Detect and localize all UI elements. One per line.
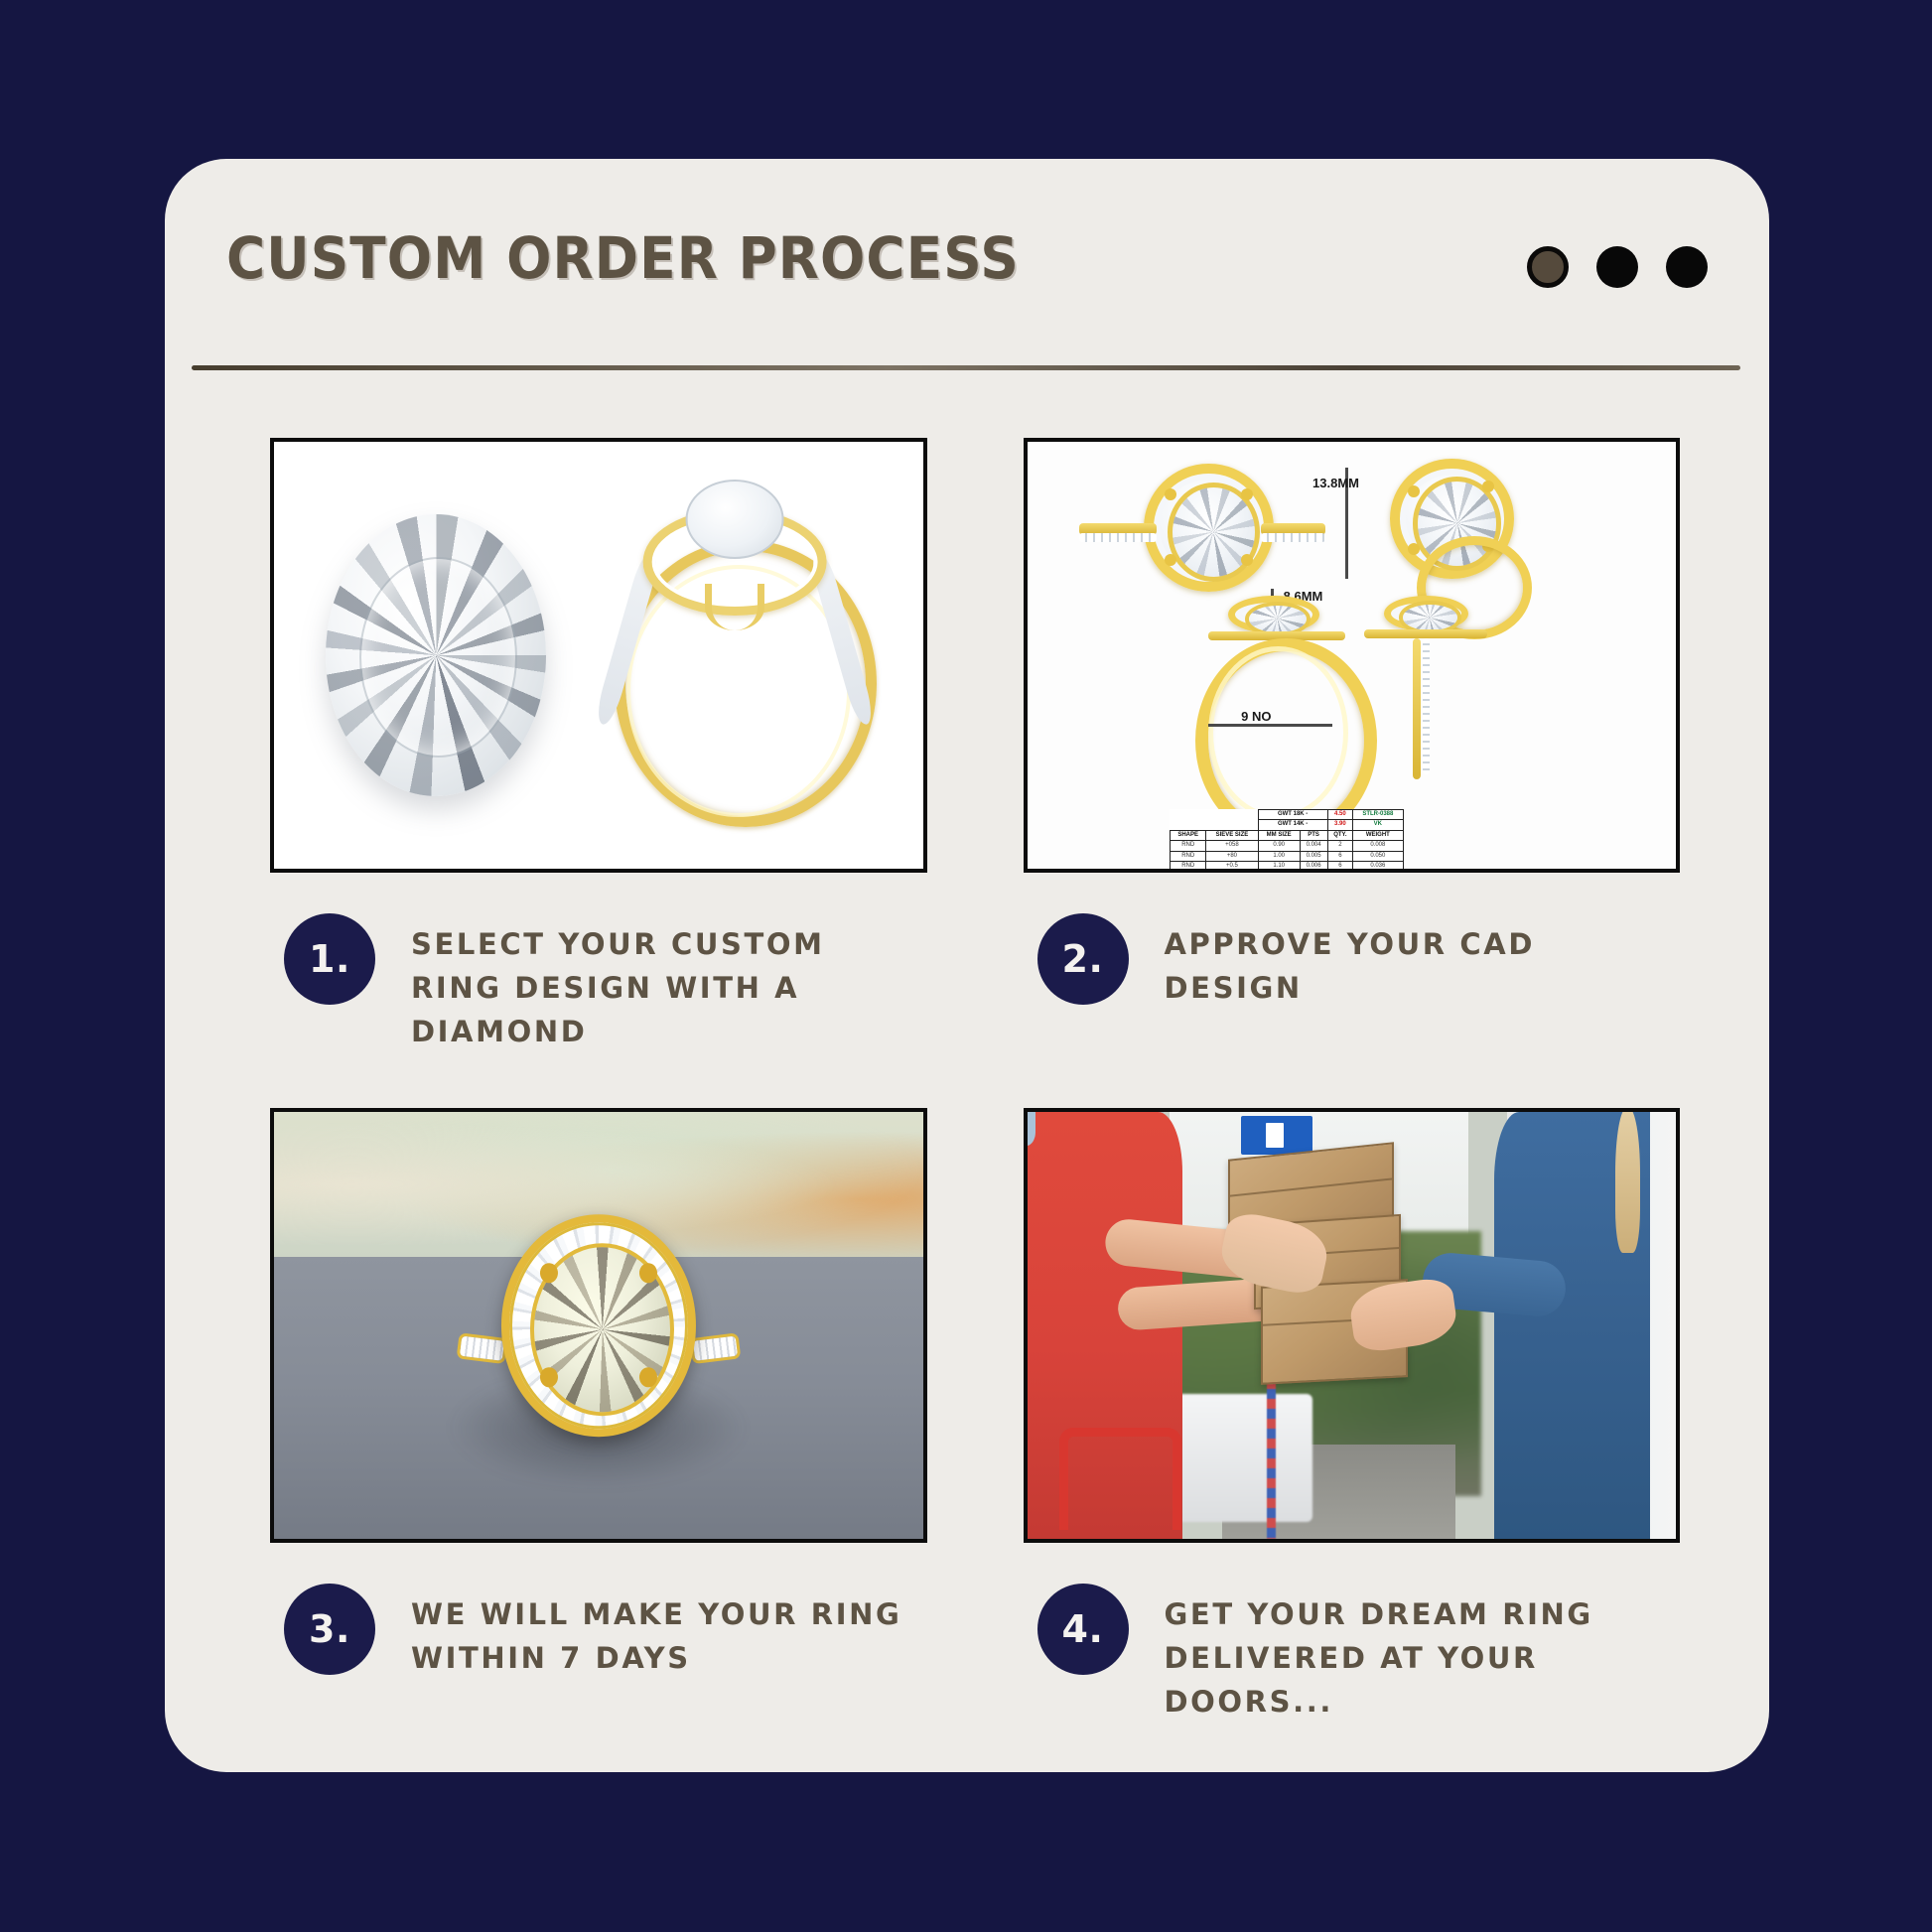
header-divider — [192, 365, 1740, 370]
card-header: CUSTOM ORDER PROCESS — [226, 207, 1735, 355]
cad-ring-size-label: 9 NO — [1241, 709, 1271, 724]
table-row: RND +058 0.90 0.004 2 0.008 — [1171, 841, 1403, 852]
hand-trolley-icon — [1059, 1428, 1181, 1531]
photo-street-sign — [1241, 1116, 1312, 1155]
gwt-14k-value: 3.90 — [1327, 820, 1353, 831]
step-card-1: 1. SELECT YOUR CUSTOM RING DESIGN WITH A… — [270, 438, 927, 1072]
cad-spec-table: GWT 18K - 4.50 STLR-0388 GWT 14K - 3.90 — [1170, 809, 1403, 873]
col-shape: SHAPE — [1171, 830, 1206, 841]
step-4-image — [1024, 1108, 1681, 1543]
cad-band-front-inner — [1208, 646, 1348, 818]
cad-side-shank — [1413, 638, 1421, 779]
customer-hair — [1615, 1108, 1640, 1253]
loose-diamond-icon — [326, 514, 546, 796]
col-qty: QTY. — [1327, 830, 1353, 841]
style-code: STLR-0388 — [1353, 809, 1403, 820]
step-card-3: 3. WE WILL MAKE YOUR RING WITHIN 7 DAYS — [270, 1108, 927, 1742]
table-row: RND +80 1.00 0.005 6 0.050 — [1171, 851, 1403, 862]
step-2-image: 13.8MM — [1024, 438, 1681, 873]
cad-pave-left — [1079, 533, 1157, 542]
step-1-badge: 1. — [284, 913, 375, 1005]
step-card-2: 13.8MM — [1024, 438, 1681, 1072]
table-row: GWT 18K - 4.50 STLR-0388 — [1171, 809, 1403, 820]
step-4-label: GET YOUR DREAM RING DELIVERED AT YOUR DO… — [1165, 1584, 1631, 1724]
step-3-badge: 3. — [284, 1584, 375, 1675]
step-2-badge: 2. — [1037, 913, 1129, 1005]
photo-delivery-van — [1170, 1394, 1312, 1522]
step-4-caption: 4. GET YOUR DREAM RING DELIVERED AT YOUR… — [1024, 1584, 1681, 1742]
gwt-18k-value: 4.50 — [1327, 809, 1353, 820]
cad-view-front-top — [1144, 464, 1274, 592]
step-card-4: 4. GET YOUR DREAM RING DELIVERED AT YOUR… — [1024, 1108, 1681, 1742]
steps-row-2: 3. WE WILL MAKE YOUR RING WITHIN 7 DAYS — [270, 1108, 1680, 1742]
finished-ring-icon — [501, 1214, 696, 1437]
window-controls — [1527, 246, 1708, 288]
step-2-caption: 2. APPROVE YOUR CAD DESIGN — [1024, 913, 1681, 1072]
table-header-row: SHAPE SIEVE SIZE MM SIZE PTS QTY. WEIGHT — [1171, 830, 1403, 841]
poster-canvas: CUSTOM ORDER PROCESS — [0, 0, 1932, 1932]
cad-side-pave — [1423, 638, 1430, 775]
steps-row-1: 1. SELECT YOUR CUSTOM RING DESIGN WITH A… — [270, 438, 1680, 1072]
col-weight: WEIGHT — [1353, 830, 1403, 841]
gwt-14k-label: GWT 14K - — [1258, 820, 1327, 831]
step-4-badge: 4. — [1037, 1584, 1129, 1675]
step-2-label: APPROVE YOUR CAD DESIGN — [1165, 913, 1631, 1010]
cad-view-front-bottom — [1228, 596, 1318, 634]
step-3-label: WE WILL MAKE YOUR RING WITHIN 7 DAYS — [411, 1584, 927, 1680]
cad-ring-size-line — [1208, 724, 1331, 727]
steps-grid: 1. SELECT YOUR CUSTOM RING DESIGN WITH A… — [270, 438, 1680, 1742]
cad-pave-right — [1261, 533, 1325, 542]
table-row: RND +0.5 1.10 0.006 6 0.036 — [1171, 862, 1403, 873]
customer-figure — [1494, 1112, 1650, 1539]
process-card: CUSTOM ORDER PROCESS — [165, 159, 1769, 1772]
cad-dimension-top-label: 13.8MM — [1312, 476, 1359, 490]
col-mm-size: MM SIZE — [1258, 830, 1300, 841]
halo-ring-profile-icon — [592, 476, 878, 834]
step-1-label: SELECT YOUR CUSTOM RING DESIGN WITH A DI… — [411, 913, 927, 1053]
col-sieve-size: SIEVE SIZE — [1206, 830, 1259, 841]
col-pts: PTS — [1300, 830, 1327, 841]
table-row: GWT 14K - 3.90 VK — [1171, 820, 1403, 831]
cad-view-side — [1384, 596, 1468, 632]
step-3-caption: 3. WE WILL MAKE YOUR RING WITHIN 7 DAYS — [270, 1584, 927, 1742]
window-dot-1-icon[interactable] — [1527, 246, 1569, 288]
gwt-18k-label: GWT 18K - — [1258, 809, 1327, 820]
face-mask-icon — [1024, 1112, 1036, 1146]
step-1-image — [270, 438, 927, 873]
step-1-caption: 1. SELECT YOUR CUSTOM RING DESIGN WITH A… — [270, 913, 927, 1072]
window-dot-3-icon[interactable] — [1666, 246, 1708, 288]
step-3-image — [270, 1108, 927, 1543]
cad-drawing-icon: 13.8MM — [1028, 442, 1677, 869]
cad-side-gallery-bar — [1364, 629, 1487, 638]
window-dot-2-icon[interactable] — [1596, 246, 1638, 288]
designer-initials: VK — [1353, 820, 1403, 831]
page-title: CUSTOM ORDER PROCESS — [226, 224, 1020, 292]
